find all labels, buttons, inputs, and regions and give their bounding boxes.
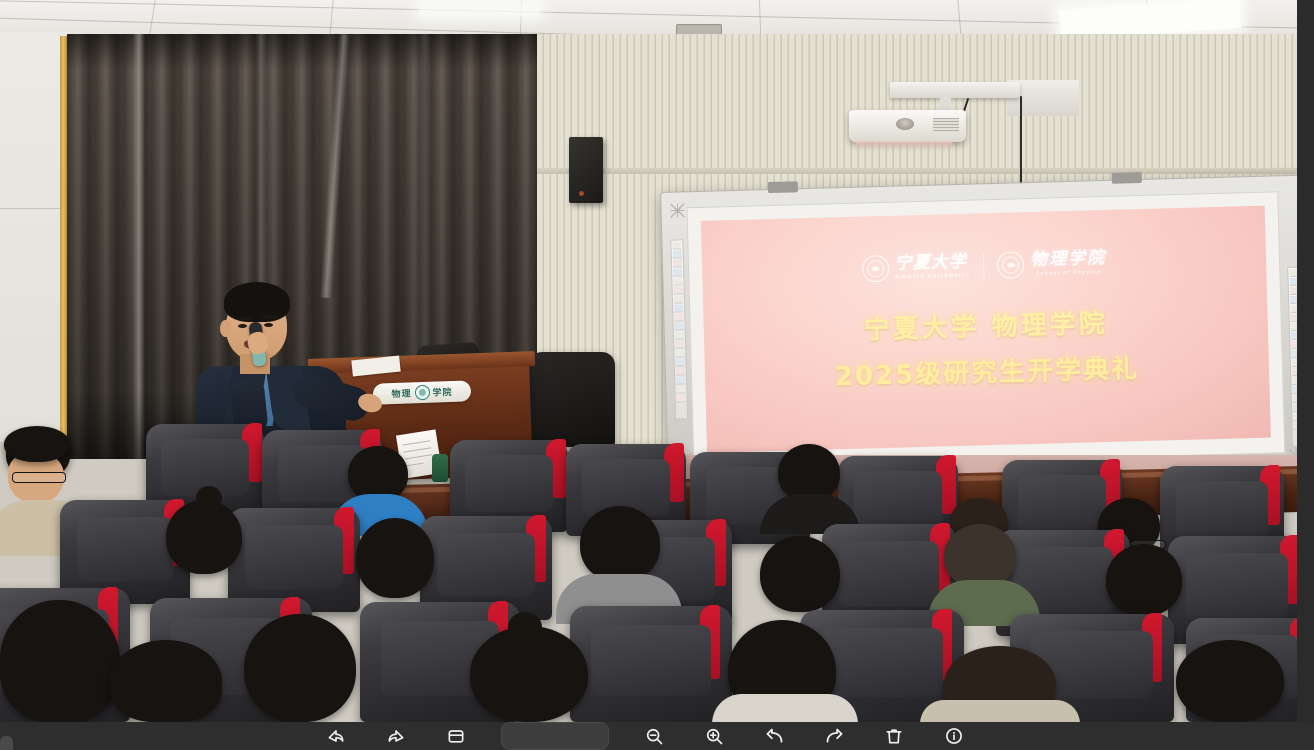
zoom-out-button[interactable] — [639, 721, 669, 750]
photo-viewer-window: 宁夏大学 NINGXIA UNIVERSITY 物理学院 School of P… — [0, 0, 1314, 750]
projector-mount — [890, 82, 1020, 98]
university-name-cn: 宁夏大学 — [895, 254, 971, 273]
projector-lens — [896, 118, 914, 130]
delete-button[interactable] — [879, 721, 909, 750]
mode-selector[interactable] — [501, 722, 609, 750]
logo-divider — [983, 253, 985, 279]
school-name-en: School of Physics — [1031, 269, 1107, 277]
ceiling-light — [420, 2, 540, 16]
university-seal-icon — [862, 255, 890, 283]
university-name-en: NINGXIA UNIVERSITY — [895, 273, 971, 281]
seat — [570, 606, 732, 722]
audience-head — [166, 500, 242, 574]
hair-bun — [508, 612, 542, 642]
stage-chair — [529, 352, 615, 447]
projector-vent — [933, 118, 959, 133]
slide-title: 宁夏大学 物理学院 2025级研究生开学典礼 — [703, 298, 1269, 396]
audience-head — [110, 640, 222, 722]
university-logo: 宁夏大学 NINGXIA UNIVERSITY — [862, 253, 971, 283]
audience-head — [580, 506, 660, 582]
photo-letterbox — [1297, 0, 1306, 722]
slide-logos: 宁夏大学 NINGXIA UNIVERSITY 物理学院 School of P… — [702, 245, 1267, 287]
audience-head — [244, 614, 356, 722]
bottle — [432, 454, 448, 482]
audience-shoulders — [712, 694, 858, 722]
wall-band — [537, 168, 1306, 174]
wall-speaker — [569, 137, 603, 203]
photo-canvas[interactable]: 宁夏大学 NINGXIA UNIVERSITY 物理学院 School of P… — [0, 0, 1306, 722]
zoom-in-button[interactable] — [699, 721, 729, 750]
audience-head — [760, 536, 840, 612]
plaque-text-right: 学院 — [432, 385, 452, 399]
photo-toolbar — [0, 722, 1314, 750]
physics-emblem-icon — [414, 385, 430, 401]
projector — [849, 110, 966, 142]
audience-hair — [4, 426, 70, 462]
audience-head — [944, 524, 1016, 588]
glasses-icon — [12, 472, 66, 483]
rotate-right-button[interactable] — [819, 721, 849, 750]
school-seal-icon — [997, 252, 1025, 280]
plaque-text-left: 物理 — [391, 386, 411, 400]
nav-handle[interactable] — [0, 736, 13, 750]
school-name-cn: 物理学院 — [1030, 250, 1106, 269]
info-button[interactable] — [939, 721, 969, 750]
audience-head — [0, 600, 120, 722]
share-button[interactable] — [321, 721, 351, 750]
projected-slide: 宁夏大学 NINGXIA UNIVERSITY 物理学院 School of P… — [701, 206, 1271, 453]
interactive-whiteboard: 宁夏大学 NINGXIA UNIVERSITY 物理学院 School of P… — [660, 175, 1306, 492]
slide-title-line1: 宁夏大学 物理学院 — [703, 298, 1268, 350]
send-button[interactable] — [381, 721, 411, 750]
rotate-left-button[interactable] — [759, 721, 789, 750]
audience-head — [1176, 640, 1284, 722]
audience-shoulders — [920, 700, 1080, 722]
slide-title-line2: 2025级研究生开学典礼 — [705, 344, 1270, 396]
audience-head — [1106, 544, 1182, 616]
projector-beam — [856, 141, 952, 150]
podium-plaque: 物理 学院 — [373, 380, 472, 404]
hair-bun — [196, 486, 222, 510]
audience-head — [356, 518, 434, 598]
crop-button[interactable] — [441, 721, 471, 750]
school-logo: 物理学院 School of Physics — [997, 249, 1107, 279]
wall-trim — [60, 36, 67, 441]
